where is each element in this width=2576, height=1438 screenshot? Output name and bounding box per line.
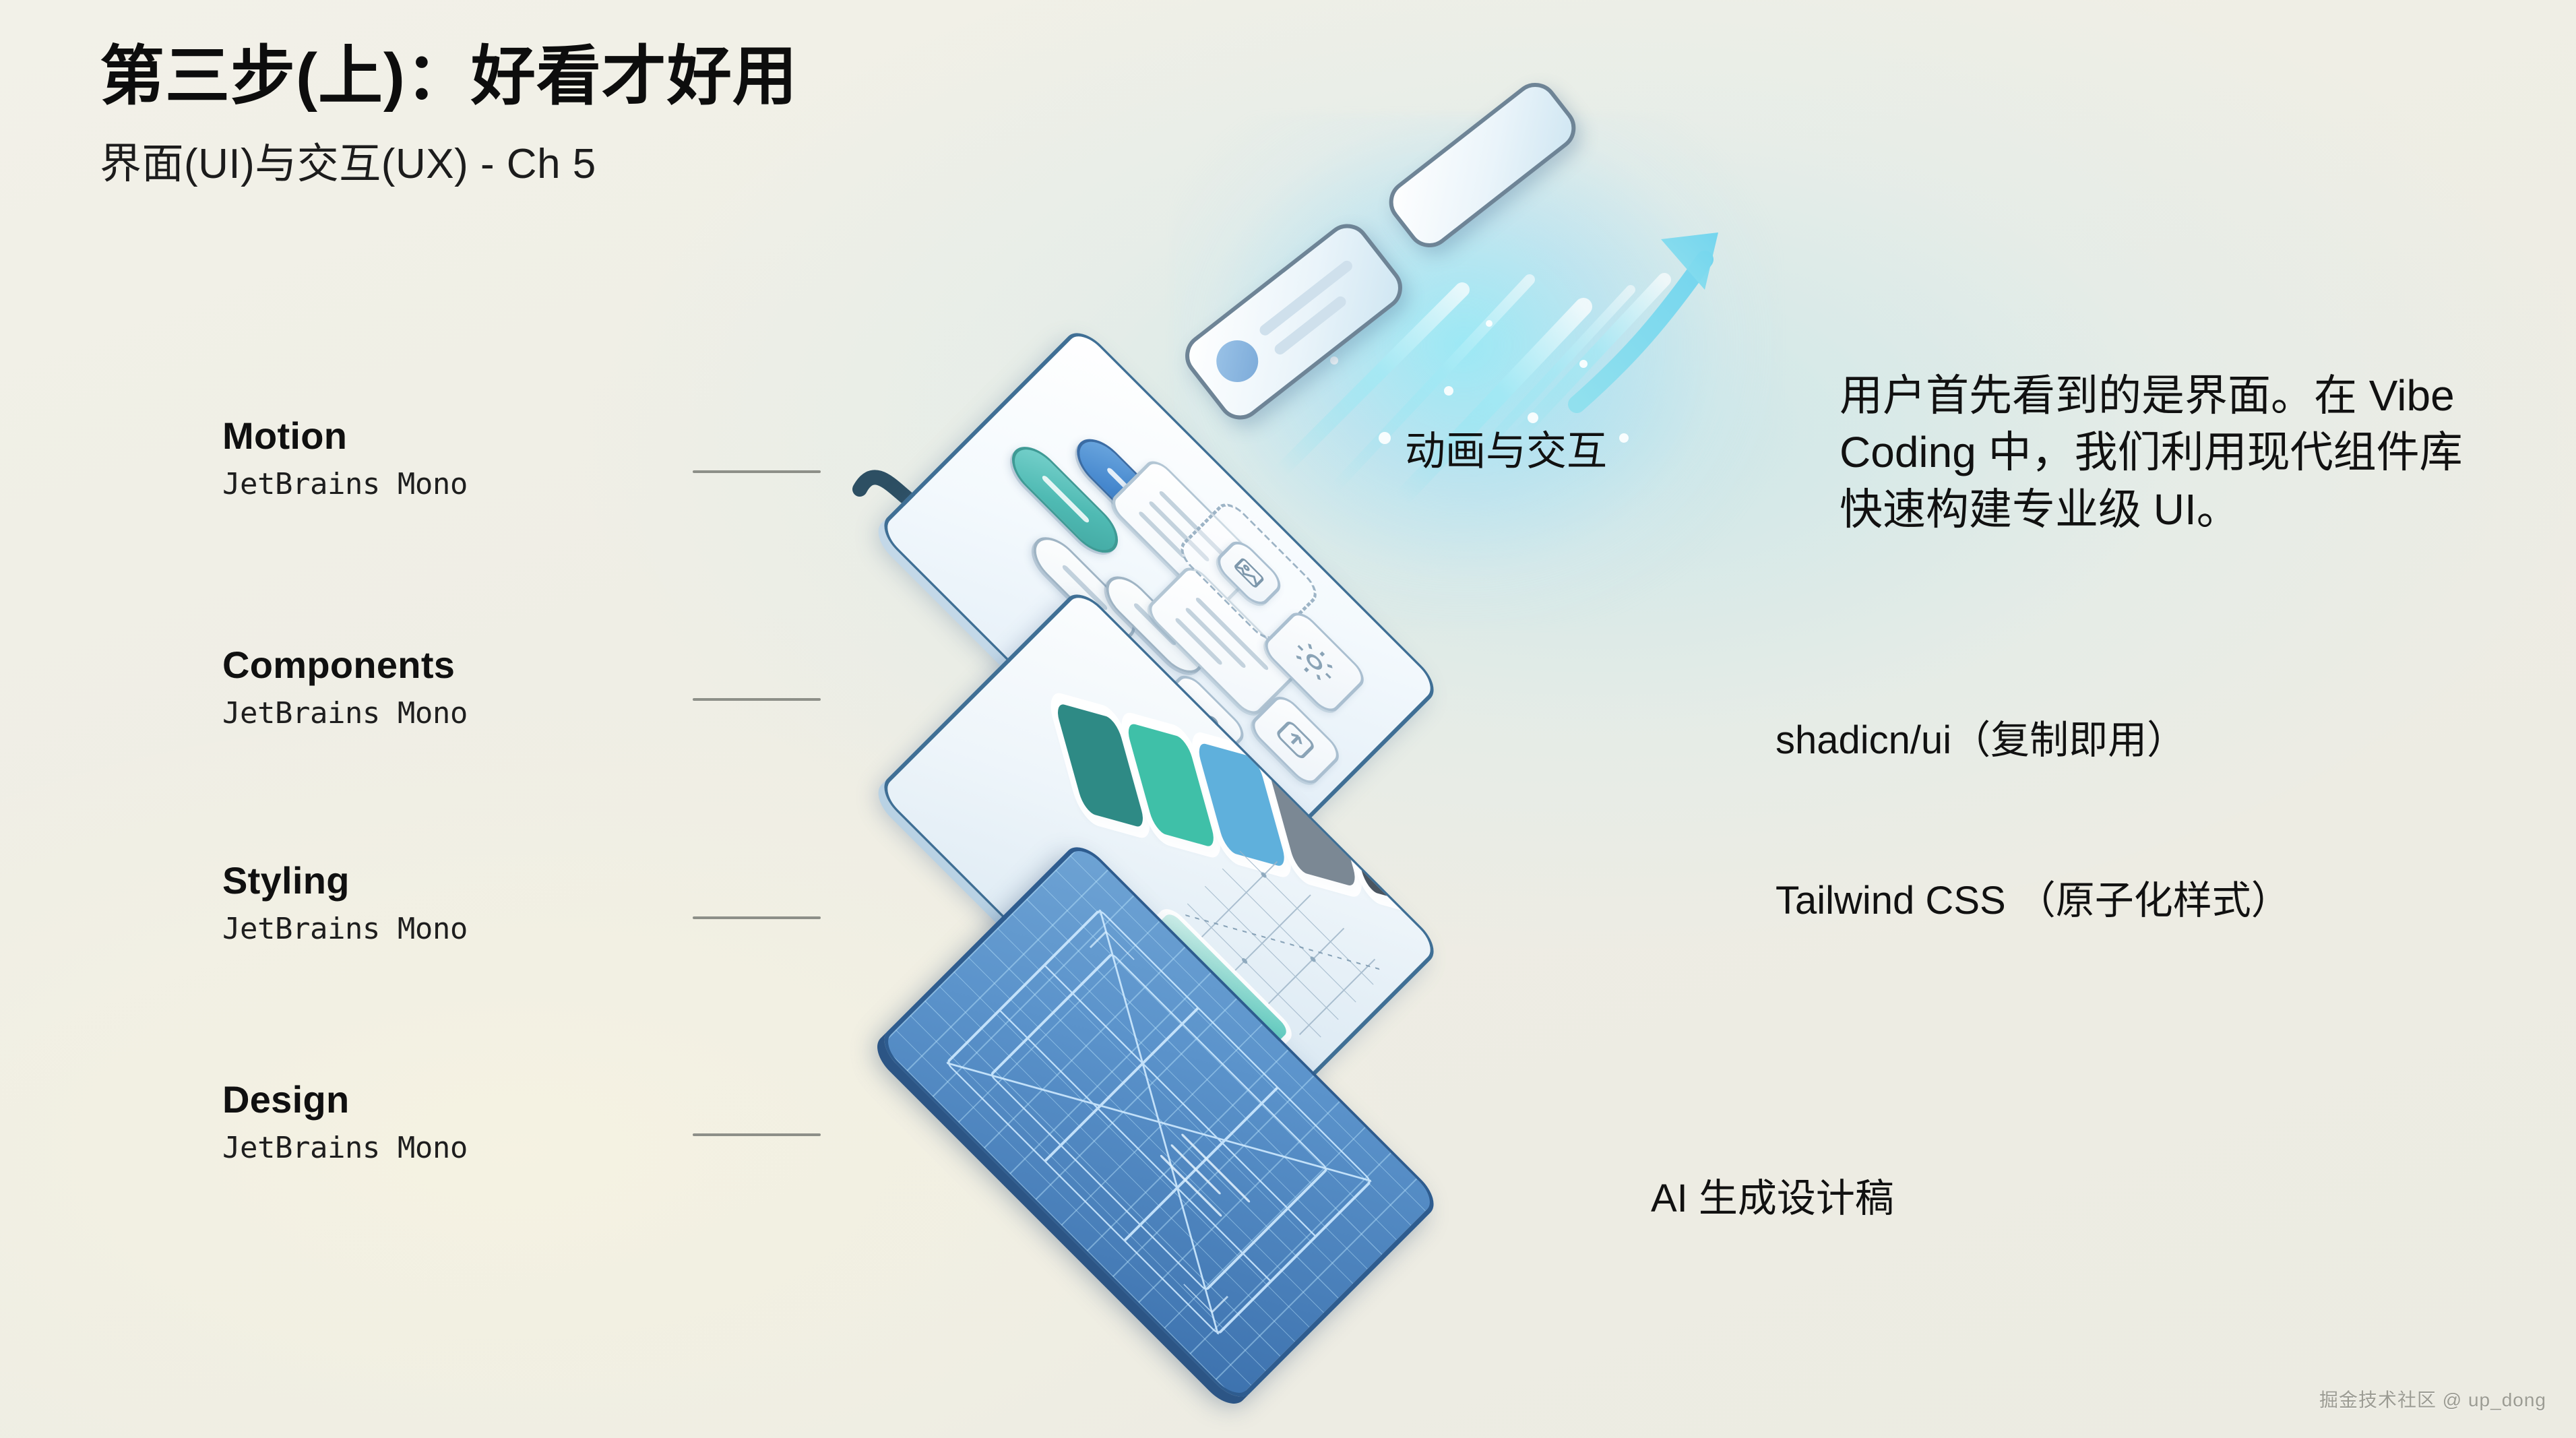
watermark: 掘金技术社区 @ up_dong bbox=[2319, 1385, 2546, 1412]
page-subtitle: 界面(UI)与交互(UX) - Ch 5 bbox=[100, 129, 798, 190]
annotation-styling: Tailwind CSS （原子化样式） bbox=[1776, 876, 2288, 926]
text-line bbox=[1272, 294, 1348, 357]
layer-stack-illustration bbox=[795, 142, 1806, 1334]
layer-font: JetBrains Mono bbox=[222, 696, 654, 730]
gear-icon bbox=[1282, 630, 1346, 694]
page-header: 第三步(上)：好看才好用 界面(UI)与交互(UX) - Ch 5 bbox=[100, 42, 798, 190]
layer-label-motion: Motion JetBrains Mono bbox=[222, 416, 654, 501]
leader-line-styling bbox=[693, 916, 821, 919]
layer-name: Styling bbox=[222, 861, 654, 901]
layer-label-components: Components JetBrains Mono bbox=[222, 646, 654, 730]
layer-font: JetBrains Mono bbox=[222, 467, 654, 501]
leader-line-design bbox=[693, 1133, 821, 1136]
annotation-design: AI 生成设计稿 bbox=[1651, 1174, 1894, 1224]
avatar bbox=[1208, 332, 1267, 390]
layer-font: JetBrains Mono bbox=[222, 912, 654, 946]
color-swatch bbox=[1407, 800, 1442, 927]
annotation-components: shadicn/ui（复制即用） bbox=[1776, 716, 2186, 765]
color-swatch bbox=[1054, 701, 1147, 829]
color-swatch bbox=[1337, 780, 1430, 908]
layer-label-design: Design JetBrains Mono bbox=[222, 1080, 654, 1165]
layer-name: Motion bbox=[222, 416, 654, 456]
layer-name: Components bbox=[222, 646, 654, 685]
leader-line-motion bbox=[693, 470, 821, 473]
layer-name: Design bbox=[222, 1080, 654, 1120]
intro-paragraph: 用户首先看到的是界面。在 Vibe Coding 中，我们利用现代组件库快速构建… bbox=[1840, 367, 2466, 538]
layer-label-styling: Styling JetBrains Mono bbox=[222, 861, 654, 946]
layer-font: JetBrains Mono bbox=[222, 1131, 654, 1165]
annotation-motion: 动画与交互 bbox=[1405, 426, 1607, 478]
leader-line-components bbox=[693, 698, 821, 701]
upload-icon bbox=[1267, 712, 1324, 768]
color-swatch bbox=[1125, 722, 1218, 849]
page-title: 第三步(上)：好看才好用 bbox=[100, 42, 798, 112]
